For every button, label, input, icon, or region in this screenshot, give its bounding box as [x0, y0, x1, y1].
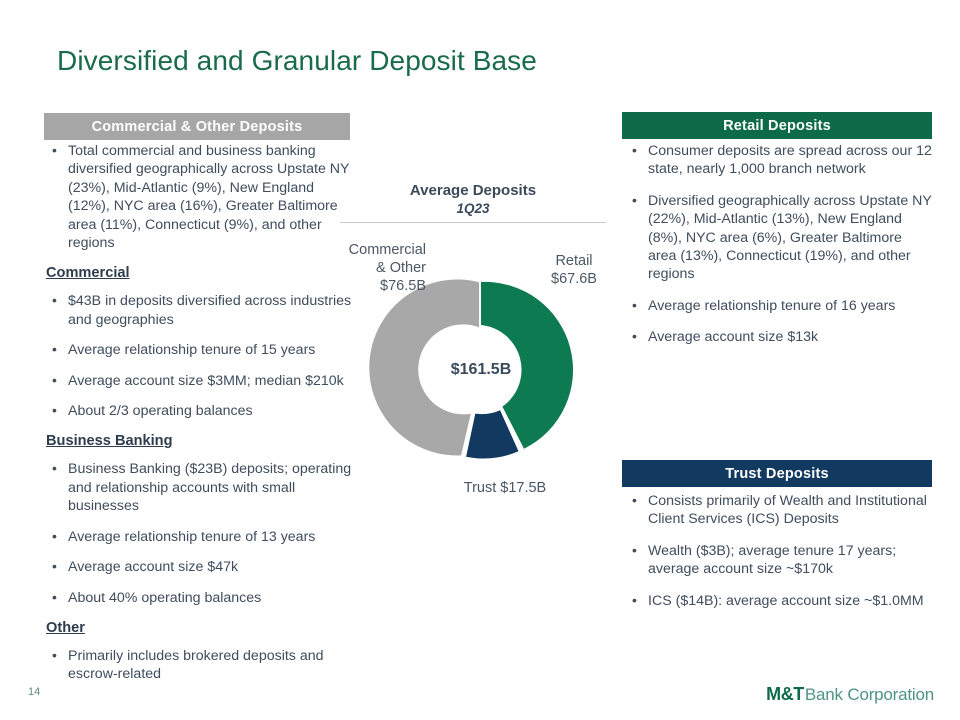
- chart-divider: [340, 222, 606, 223]
- section-header-retail: Retail Deposits: [622, 112, 932, 139]
- list-item: Average account size $13k: [626, 328, 934, 346]
- logo-mark: M&T: [766, 684, 804, 705]
- retail-panel-body: Consumer deposits are spread across our …: [626, 142, 934, 360]
- subheading-commercial: Commercial: [46, 264, 356, 290]
- logo-wordmark: Bank Corporation: [805, 685, 934, 705]
- donut-slice-commercial-other[interactable]: [369, 279, 479, 455]
- list-item: Average relationship tenure of 16 years: [626, 297, 934, 315]
- list-item: ICS ($14B): average account size ~$1.0MM: [626, 592, 934, 610]
- list-item: Average relationship tenure of 15 years: [46, 341, 356, 359]
- chart-label-line: Commercial: [330, 241, 426, 259]
- section-header-commercial-label: Commercial & Other Deposits: [92, 119, 303, 135]
- list-item: $43B in deposits diversified across indu…: [46, 292, 356, 329]
- chart-title: Average Deposits: [335, 182, 611, 200]
- list-item: About 40% operating balances: [46, 589, 356, 607]
- section-header-trust: Trust Deposits: [622, 460, 932, 487]
- list-item: Wealth ($3B); average tenure 17 years; a…: [626, 542, 934, 579]
- list-item: Consumer deposits are spread across our …: [626, 142, 934, 179]
- chart-label-line: & Other: [330, 259, 426, 277]
- list-item: Primarily includes brokered deposits and…: [46, 647, 356, 684]
- trust-panel-body: Consists primarily of Wealth and Institu…: [626, 492, 934, 623]
- subheading-other: Other: [46, 619, 356, 645]
- mt-bank-logo: M&T Bank Corporation: [766, 684, 934, 705]
- chart-subtitle: 1Q23: [335, 200, 611, 217]
- list-item: Total commercial and business banking di…: [46, 142, 356, 252]
- page-title: Diversified and Granular Deposit Base: [57, 45, 537, 77]
- section-header-commercial: Commercial & Other Deposits: [44, 113, 350, 140]
- chart-label-commercial-other: Commercial & Other $76.5B: [330, 241, 426, 295]
- section-header-retail-label: Retail Deposits: [723, 118, 831, 134]
- commercial-panel-body: Total commercial and business banking di…: [46, 142, 356, 696]
- chart-label-trust: Trust $17.5B: [430, 479, 580, 497]
- list-item: Consists primarily of Wealth and Institu…: [626, 492, 934, 529]
- chart-label-line: $67.6B: [536, 270, 612, 288]
- list-item: Diversified geographically across Upstat…: [626, 192, 934, 284]
- list-item: Business Banking ($23B) deposits; operat…: [46, 460, 356, 515]
- subheading-label: Other: [46, 620, 85, 636]
- list-item: Average relationship tenure of 13 years: [46, 528, 356, 546]
- list-item: Average account size $3MM; median $210k: [46, 372, 356, 390]
- chart-label-line: $76.5B: [330, 277, 426, 295]
- list-item: Average account size $47k: [46, 558, 356, 576]
- chart-label-retail: Retail $67.6B: [536, 252, 612, 288]
- page-number: 14: [28, 686, 40, 698]
- slide-canvas: Diversified and Granular Deposit Base Co…: [0, 0, 960, 720]
- list-item: About 2/3 operating balances: [46, 402, 356, 420]
- subheading-business-banking: Business Banking: [46, 432, 356, 458]
- chart-label-line: Retail: [536, 252, 612, 270]
- subheading-label: Business Banking: [46, 433, 173, 449]
- subheading-label: Commercial: [46, 265, 130, 281]
- section-header-trust-label: Trust Deposits: [725, 466, 829, 482]
